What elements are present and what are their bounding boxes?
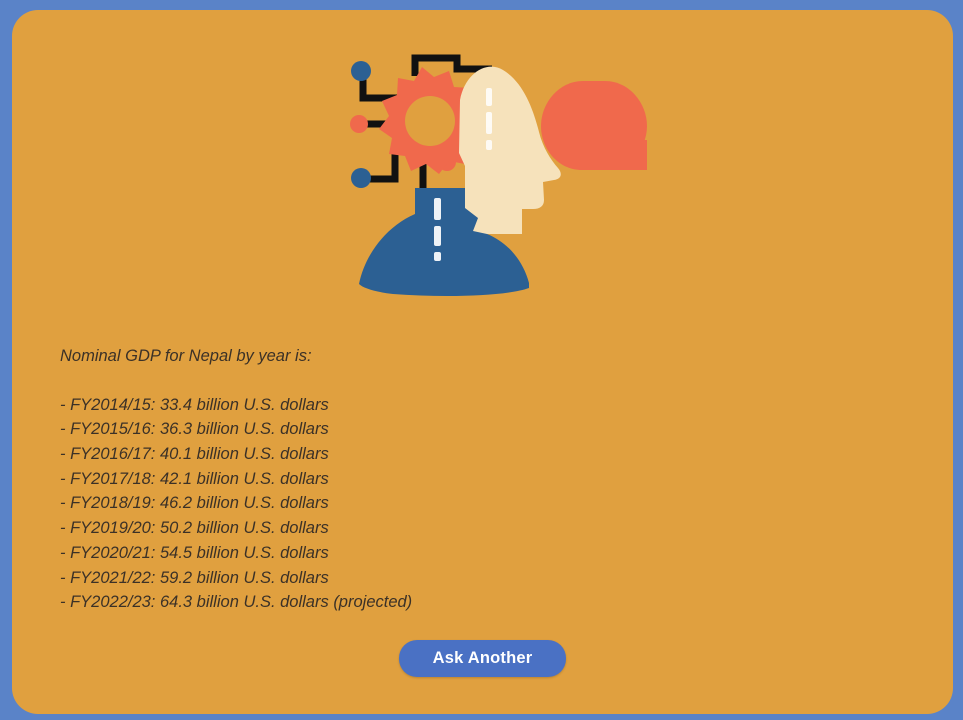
list-item: - FY2016/17: 40.1 billion U.S. dollars <box>60 442 900 467</box>
answer-block: Nominal GDP for Nepal by year is: - FY20… <box>60 344 900 615</box>
list-item: - FY2021/22: 59.2 billion U.S. dollars <box>60 566 900 591</box>
circuit-node-blue-top <box>351 61 371 81</box>
list-item: - FY2019/20: 50.2 billion U.S. dollars <box>60 516 900 541</box>
circuit-node-coral-middle <box>350 115 368 133</box>
app-window: Nominal GDP for Nepal by year is: - FY20… <box>0 0 963 720</box>
circuit-node-blue-bottom <box>351 168 371 188</box>
ai-thinking-head-illustration <box>337 48 657 303</box>
list-item: - FY2022/23: 64.3 billion U.S. dollars (… <box>60 590 900 615</box>
answer-card-panel: Nominal GDP for Nepal by year is: - FY20… <box>12 10 953 714</box>
speech-bubble-tail <box>605 140 647 170</box>
list-item: - FY2018/19: 46.2 billion U.S. dollars <box>60 491 900 516</box>
ask-another-button[interactable]: Ask Another <box>399 640 567 677</box>
gear-center <box>405 96 455 146</box>
list-item: - FY2017/18: 42.1 billion U.S. dollars <box>60 467 900 492</box>
answer-list: - FY2014/15: 33.4 billion U.S. dollars -… <box>60 393 900 615</box>
head-dashes <box>486 88 492 150</box>
footer-actions: Ask Another <box>12 640 953 677</box>
list-item: - FY2015/16: 36.3 billion U.S. dollars <box>60 417 900 442</box>
answer-heading: Nominal GDP for Nepal by year is: <box>60 344 900 369</box>
list-item: - FY2020/21: 54.5 billion U.S. dollars <box>60 541 900 566</box>
list-item: - FY2014/15: 33.4 billion U.S. dollars <box>60 393 900 418</box>
head-profile <box>459 67 561 234</box>
